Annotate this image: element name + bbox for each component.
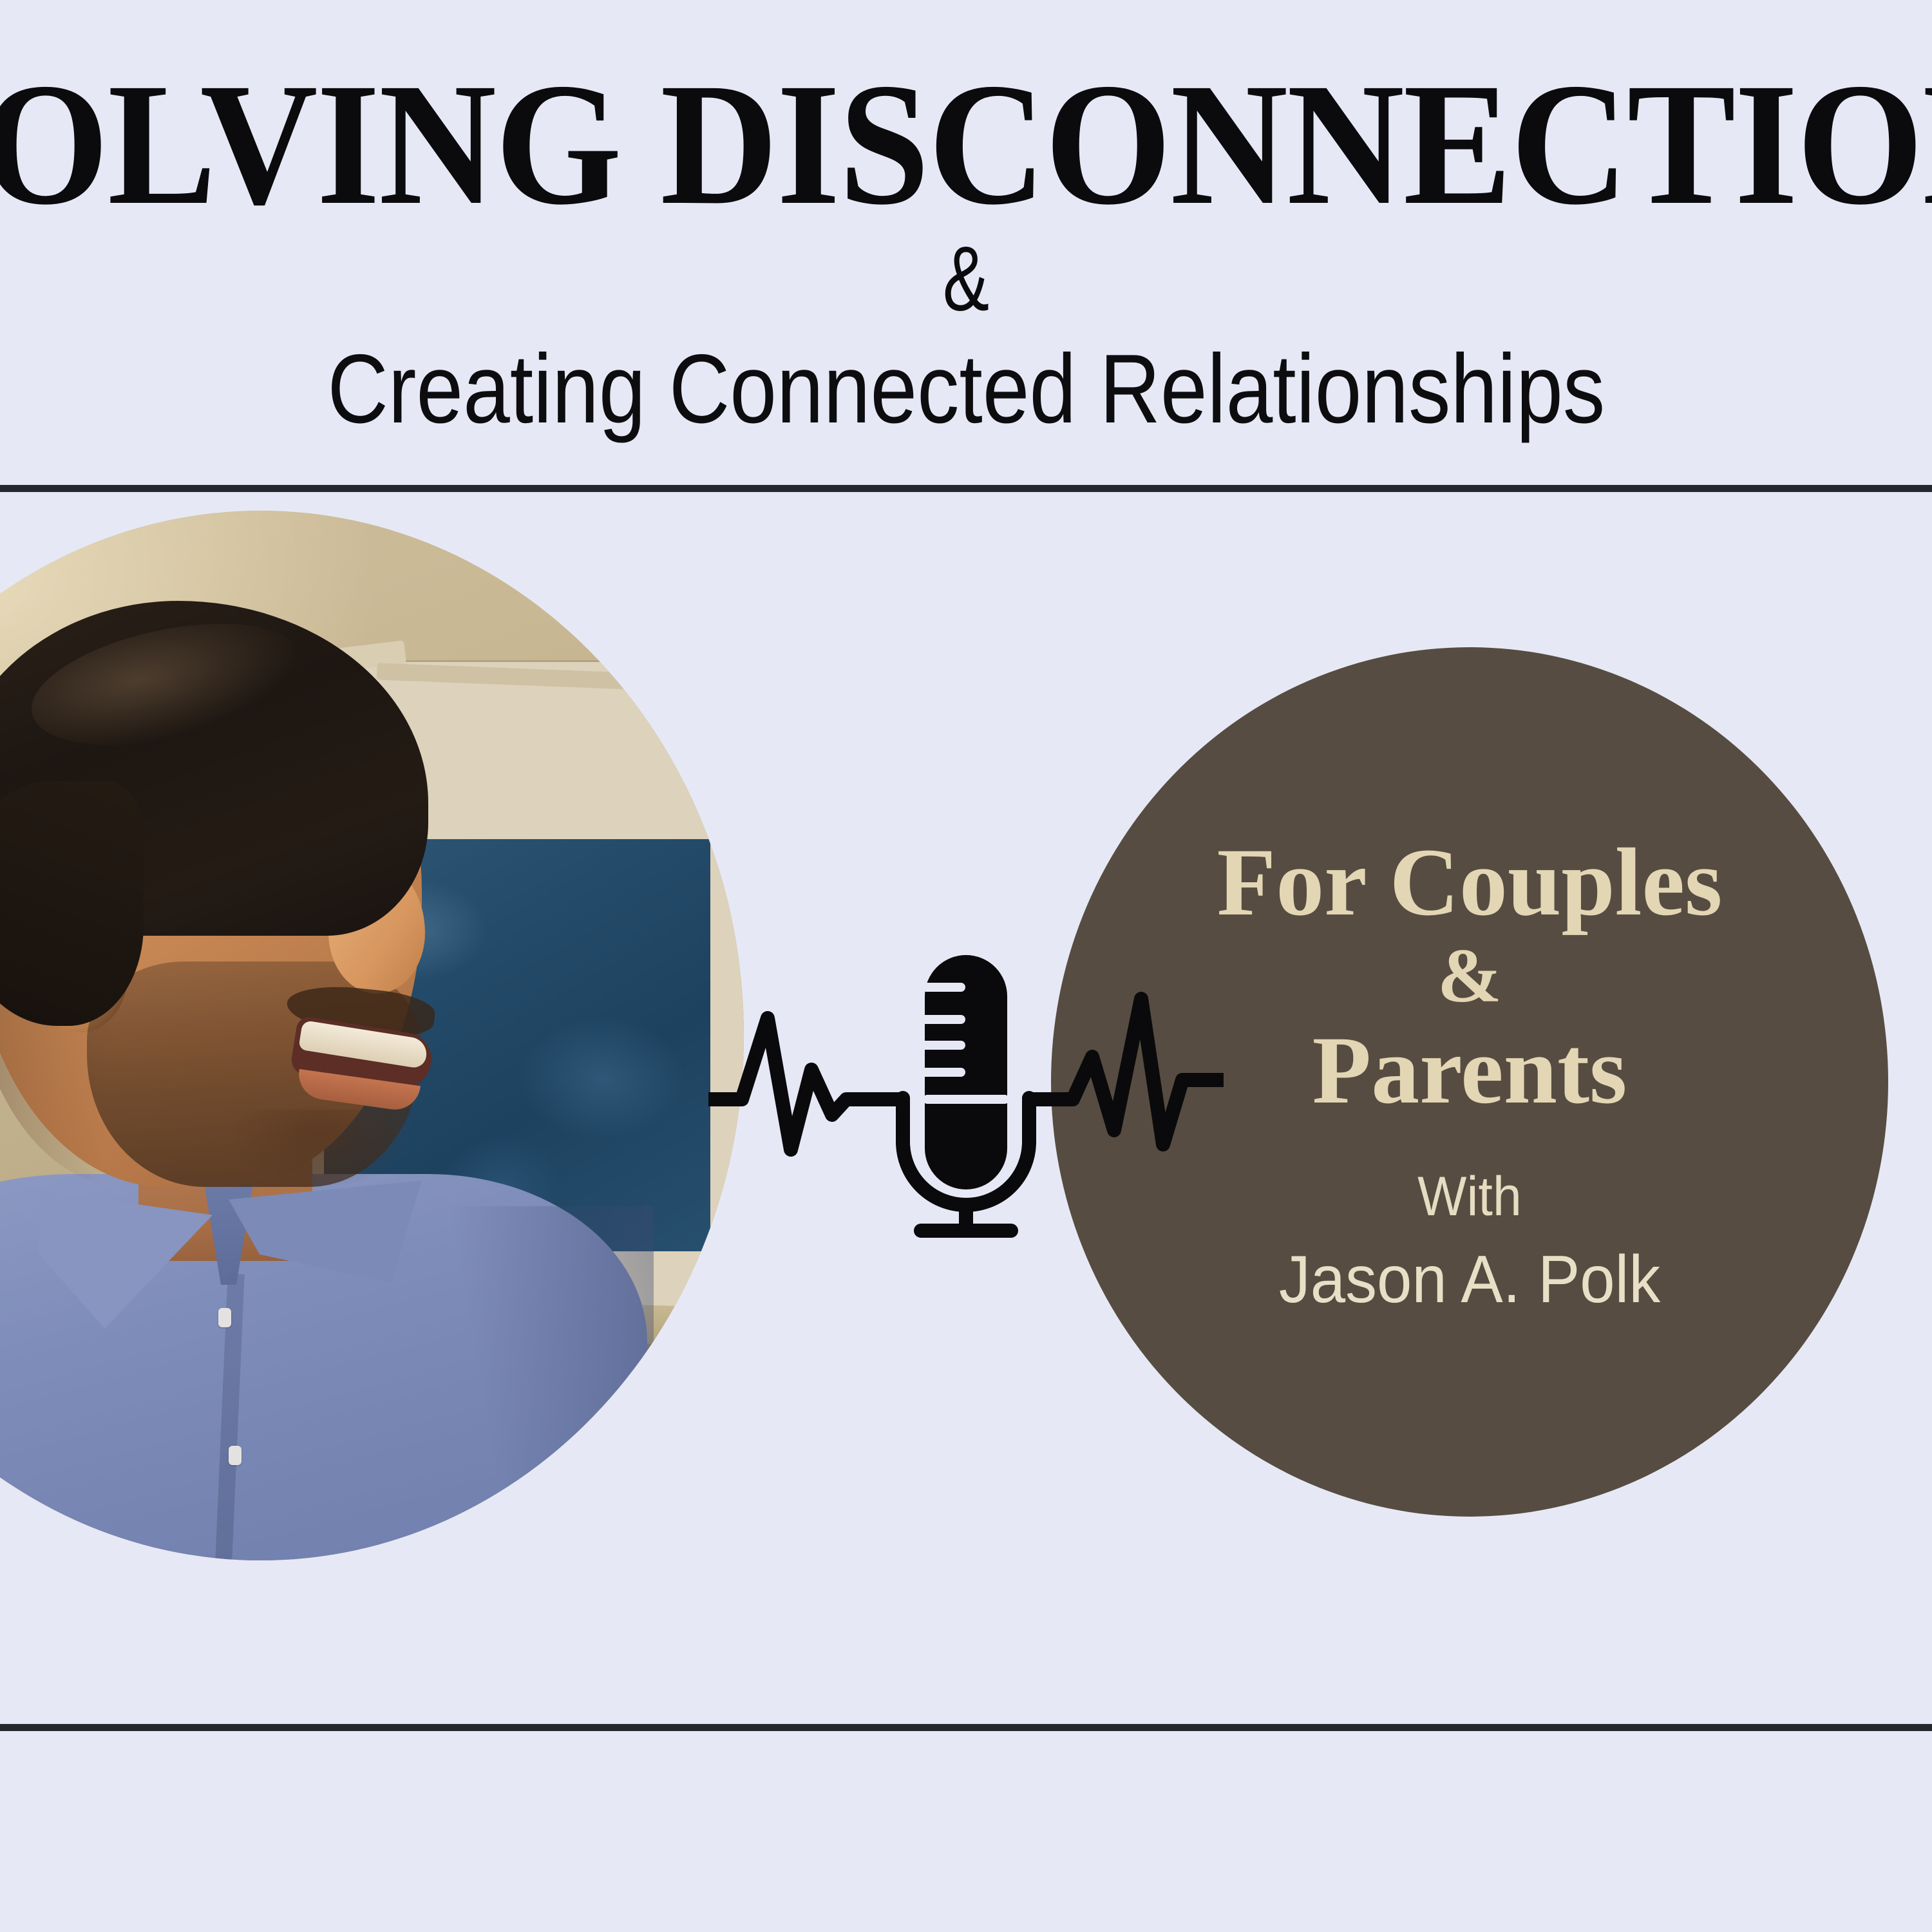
title-ampersand: &	[943, 233, 989, 325]
portrait-shirt-button	[218, 1308, 231, 1327]
divider-bottom	[0, 1724, 1932, 1731]
divider-top	[0, 485, 1932, 492]
page-subtitle: Creating Connected Relationships	[327, 338, 1605, 441]
portrait-hair-side	[0, 781, 144, 1026]
badge-ampersand: &	[1437, 937, 1502, 1014]
portrait-shirt-fold	[0, 1232, 10, 1560]
portrait-shirt-button	[229, 1446, 241, 1465]
badge-line-1: For Couples	[1217, 834, 1723, 931]
header-block: SOLVING DISCONNECTION & Creating Connect…	[0, 0, 1932, 488]
portrait-chin-shadow	[229, 1110, 409, 1187]
page-title: SOLVING DISCONNECTION	[0, 67, 1932, 221]
podcast-cover-art: SOLVING DISCONNECTION & Creating Connect…	[0, 0, 1932, 1932]
host-portrait	[0, 511, 744, 1560]
badge-line-2: Parents	[1312, 1022, 1627, 1119]
badge-with-label: With	[1417, 1169, 1522, 1224]
microphone-waveform-icon	[708, 937, 1224, 1259]
portrait-shirt-shadow	[435, 1206, 654, 1560]
host-name: Jason A. Polk	[1279, 1246, 1660, 1313]
